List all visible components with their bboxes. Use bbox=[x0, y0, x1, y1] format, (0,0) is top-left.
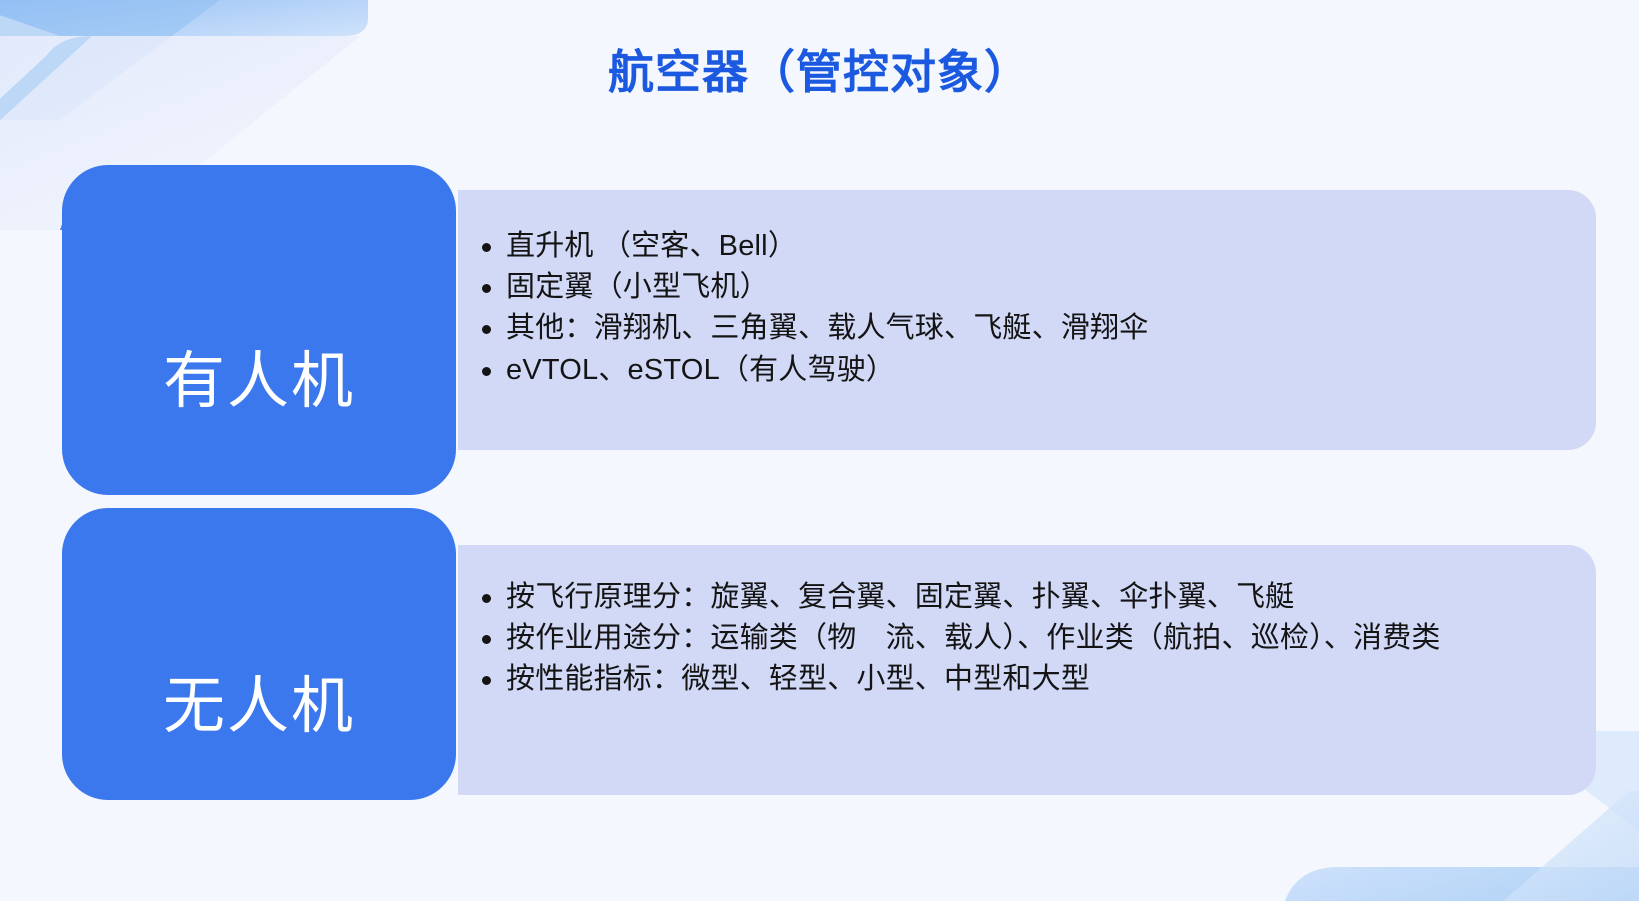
category-label: 有人机 bbox=[163, 351, 355, 413]
list-item: 按作业用途分：运输类（物 流、载人）、作业类（航拍、巡检）、消费类 bbox=[476, 618, 1596, 659]
detail-panel-manned: 直升机 （空客、Bell） 固定翼（小型飞机） 其他：滑翔机、三角翼、载人气球、… bbox=[458, 190, 1596, 450]
list-item: 按性能指标：微型、轻型、小型、中型和大型 bbox=[476, 659, 1596, 700]
bullet-list-unmanned: 按飞行原理分：旋翼、复合翼、固定翼、扑翼、伞扑翼、飞艇 按作业用途分：运输类（物… bbox=[476, 577, 1596, 701]
detail-panel-unmanned: 按飞行原理分：旋翼、复合翼、固定翼、扑翼、伞扑翼、飞艇 按作业用途分：运输类（物… bbox=[458, 545, 1596, 795]
category-box-manned[interactable]: 有人机 bbox=[62, 165, 456, 495]
list-item: 固定翼（小型飞机） bbox=[476, 267, 1596, 308]
list-item: 按飞行原理分：旋翼、复合翼、固定翼、扑翼、伞扑翼、飞艇 bbox=[476, 577, 1596, 618]
list-item: 直升机 （空客、Bell） bbox=[476, 226, 1596, 267]
list-item: 其他：滑翔机、三角翼、载人气球、飞艇、滑翔伞 bbox=[476, 308, 1596, 349]
page-title: 航空器（管控对象） bbox=[0, 36, 1639, 102]
category-label: 无人机 bbox=[163, 676, 355, 738]
category-box-unmanned[interactable]: 无人机 bbox=[62, 508, 456, 800]
list-item: eVTOL、eSTOL（有人驾驶） bbox=[476, 350, 1596, 391]
bullet-list-manned: 直升机 （空客、Bell） 固定翼（小型飞机） 其他：滑翔机、三角翼、载人气球、… bbox=[476, 226, 1596, 391]
slide-canvas: 航空器（管控对象） 直升机 （空客、Bell） 固定翼（小型飞机） 其他：滑翔机… bbox=[0, 0, 1639, 901]
